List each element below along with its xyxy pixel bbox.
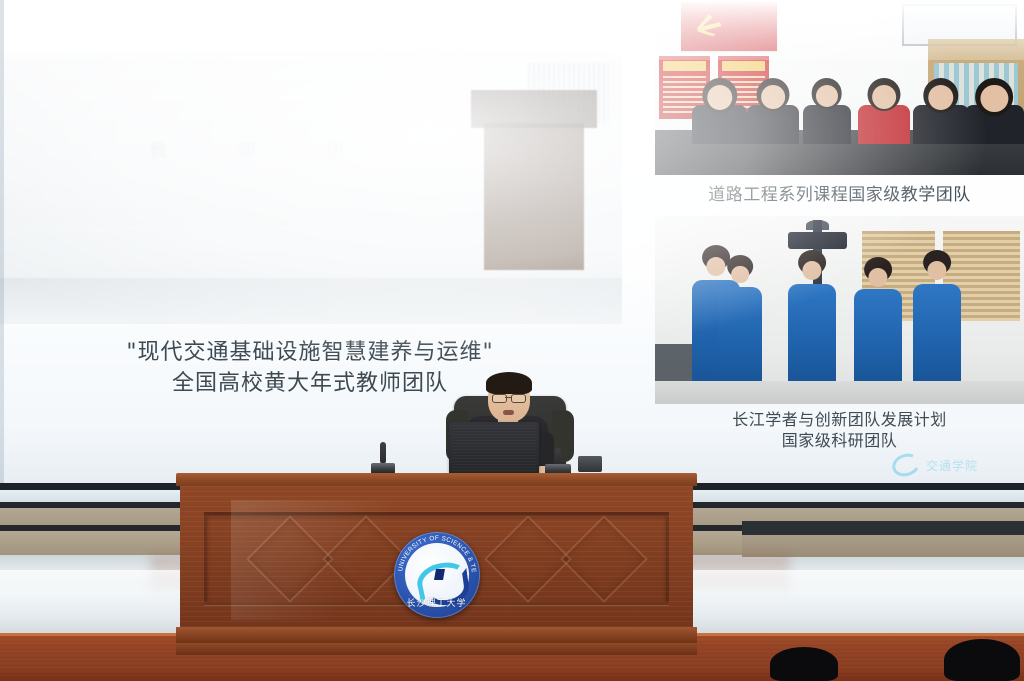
slide-faint-title: 教 · 师 · 团 · 队	[150, 136, 470, 158]
swoosh-logo-icon	[889, 450, 922, 480]
lab-technician	[913, 284, 961, 397]
lab-technician	[854, 289, 902, 396]
university-crest-icon: CHANGSHA UNIVERSITY OF SCIENCE & TECHNOL…	[394, 532, 480, 618]
lab-technician	[718, 287, 762, 396]
hammer-sickle-icon	[694, 13, 727, 37]
presenter-mouth	[503, 410, 514, 415]
participant-face	[872, 85, 896, 109]
technician-face	[731, 266, 749, 284]
machine-head	[788, 232, 847, 249]
meeting-participant	[747, 105, 799, 144]
podium-carving-diamond	[246, 515, 334, 603]
wall-band-step-tan	[742, 535, 1024, 557]
audience-head-right	[944, 639, 1020, 681]
podium-front-panel: CHANGSHA UNIVERSITY OF SCIENCE & TECHNOL…	[180, 486, 693, 627]
screen-frame-left	[0, 0, 4, 483]
lab-floor	[655, 381, 1024, 404]
party-flag-icon	[681, 2, 777, 51]
meeting-participant	[858, 105, 910, 144]
crest-chinese-label: 长沙理工大学	[394, 596, 480, 609]
photo-party-meeting-room	[655, 0, 1024, 175]
slide-watermark-logo: 交通学院	[892, 452, 1012, 478]
podium-carving-diamond	[484, 515, 572, 603]
watermark-text: 交通学院	[926, 457, 978, 474]
group-photo-faculty-team	[0, 52, 622, 324]
laptop[interactable]	[449, 422, 539, 474]
poster-title-bar	[722, 61, 765, 71]
left-caption-line-1: "现代交通基础设施智慧建养与运维"	[0, 338, 620, 368]
microphone-icon	[555, 448, 561, 464]
svg-text:CHANGSHA UNIVERSITY OF SCIENCE: CHANGSHA UNIVERSITY OF SCIENCE & TECHNOL…	[394, 532, 477, 574]
lab-technician	[788, 284, 836, 397]
audience-head-left	[770, 647, 838, 681]
podium-highlight	[231, 500, 405, 620]
research-caption-line-1: 长江学者与创新团队发展计划	[655, 409, 1024, 430]
lectern-podium: CHANGSHA UNIVERSITY OF SCIENCE & TECHNOL…	[176, 473, 697, 655]
meeting-participant	[913, 105, 968, 144]
participant-face	[761, 85, 785, 109]
meeting-participant	[803, 105, 851, 144]
glasses-lens-right-icon	[511, 394, 526, 403]
research-caption-line-2: 国家级科研团队	[655, 430, 1024, 451]
podium-base-moulding	[176, 627, 697, 643]
group-photo-blur-overlay	[0, 52, 622, 324]
glasses-lens-left-icon	[492, 394, 507, 403]
podium-top-surface	[176, 473, 697, 486]
desk-device	[578, 456, 602, 472]
photo-laboratory-blue-coats	[655, 216, 1024, 404]
poster-title-bar	[663, 61, 706, 71]
microphone-icon	[380, 442, 386, 464]
presenter-hair	[486, 372, 532, 394]
microphone-left	[371, 442, 395, 474]
podium-carving-diamond	[560, 515, 648, 603]
research-team-caption: 长江学者与创新团队发展计划 国家级科研团队	[655, 409, 1024, 451]
teaching-team-caption: 道路工程系列课程国家级教学团队	[655, 180, 1024, 205]
meeting-participant	[965, 105, 1024, 144]
lecture-hall-scene: 教 · 师 · 团 · 队 "现代交通基础设施智慧建养与运维" 全国高校黄大年式…	[0, 0, 1024, 681]
crest-arc-label: CHANGSHA UNIVERSITY OF SCIENCE & TECHNOL…	[394, 532, 477, 574]
participant-face	[816, 85, 838, 107]
wall-band-step-dark	[742, 521, 1024, 535]
meeting-participant	[692, 105, 747, 144]
microphone-right	[545, 448, 571, 475]
podium-plinth	[176, 643, 697, 655]
